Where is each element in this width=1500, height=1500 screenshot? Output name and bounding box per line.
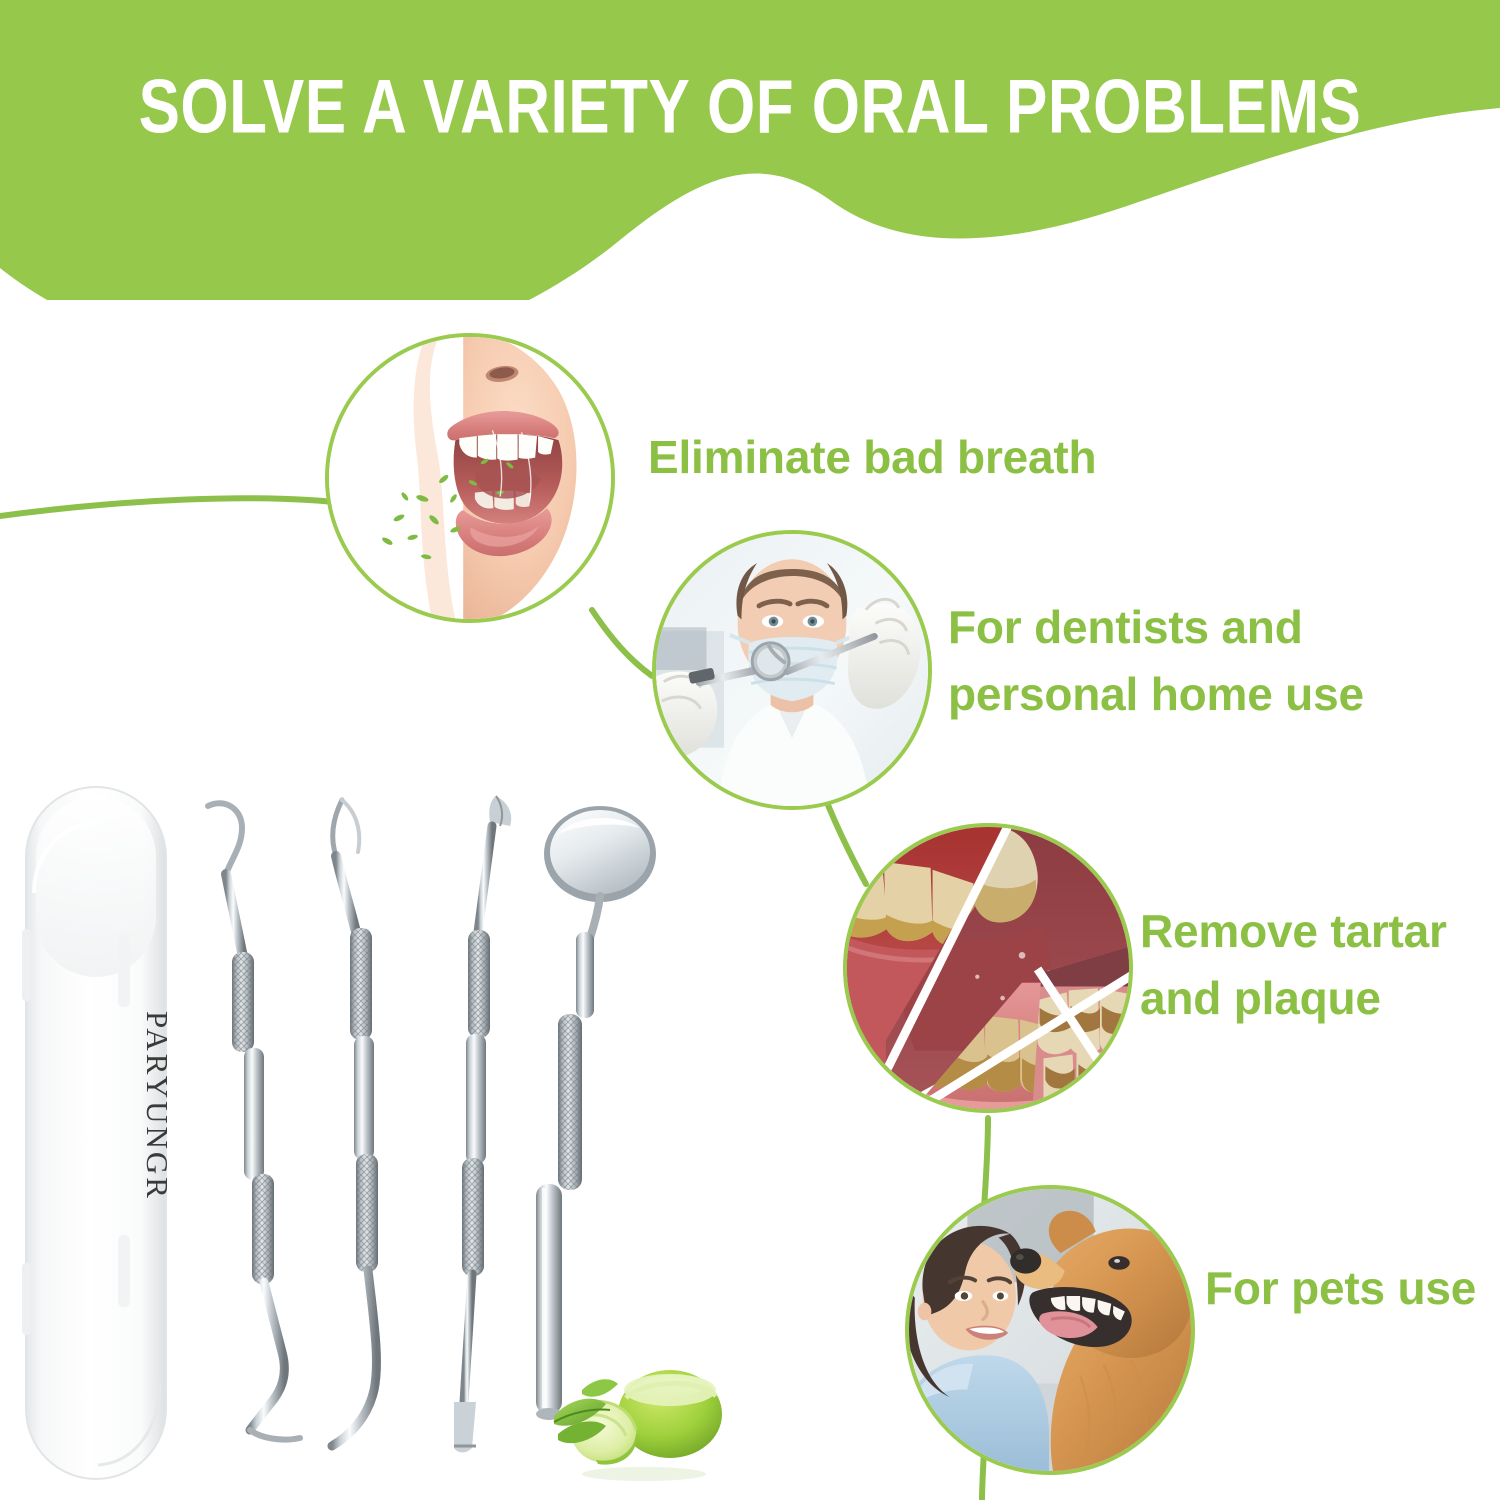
connector-circle1-circle2 [592, 610, 652, 676]
connector-circle2-circle3 [826, 800, 866, 884]
feature-label-for-dentists: For dentists and personal home use [948, 594, 1364, 727]
brand-name: PARYUNGR [139, 961, 175, 1251]
feature-label-for-pets-use: For pets use [1205, 1255, 1476, 1322]
tool-dental-mouth-mirror [536, 806, 656, 1420]
feature-photo-for-pets-use [905, 1185, 1195, 1475]
tool-sickle-probe-hook-scaler [208, 803, 300, 1439]
page-title: SOLVE A VARIETY OF ORAL PROBLEMS [0, 68, 1500, 147]
feature-photo-eliminate-bad-breath [325, 333, 615, 623]
connector-circle3-circle4 [984, 1118, 988, 1208]
feature-photo-remove-tartar-and-plaque [843, 823, 1133, 1113]
feature-label-eliminate-bad-breath: Eliminate bad breath [648, 424, 1096, 491]
tool-curved-dental-pick [332, 800, 378, 1446]
sliced-lime-with-mint-leaves [548, 1338, 738, 1488]
product-storage-case: PARYUNGR [22, 783, 172, 1483]
feature-photo-for-dentists [652, 530, 932, 810]
infographic-canvas: SOLVE A VARIETY OF ORAL PROBLEMS [0, 0, 1500, 1500]
tool-flat-blade-tartar-scraper [454, 796, 511, 1453]
header-banner: SOLVE A VARIETY OF ORAL PROBLEMS [0, 0, 1500, 300]
connector-left-curve [0, 498, 352, 516]
feature-label-remove-tartar: Remove tartar and plaque [1140, 898, 1447, 1031]
